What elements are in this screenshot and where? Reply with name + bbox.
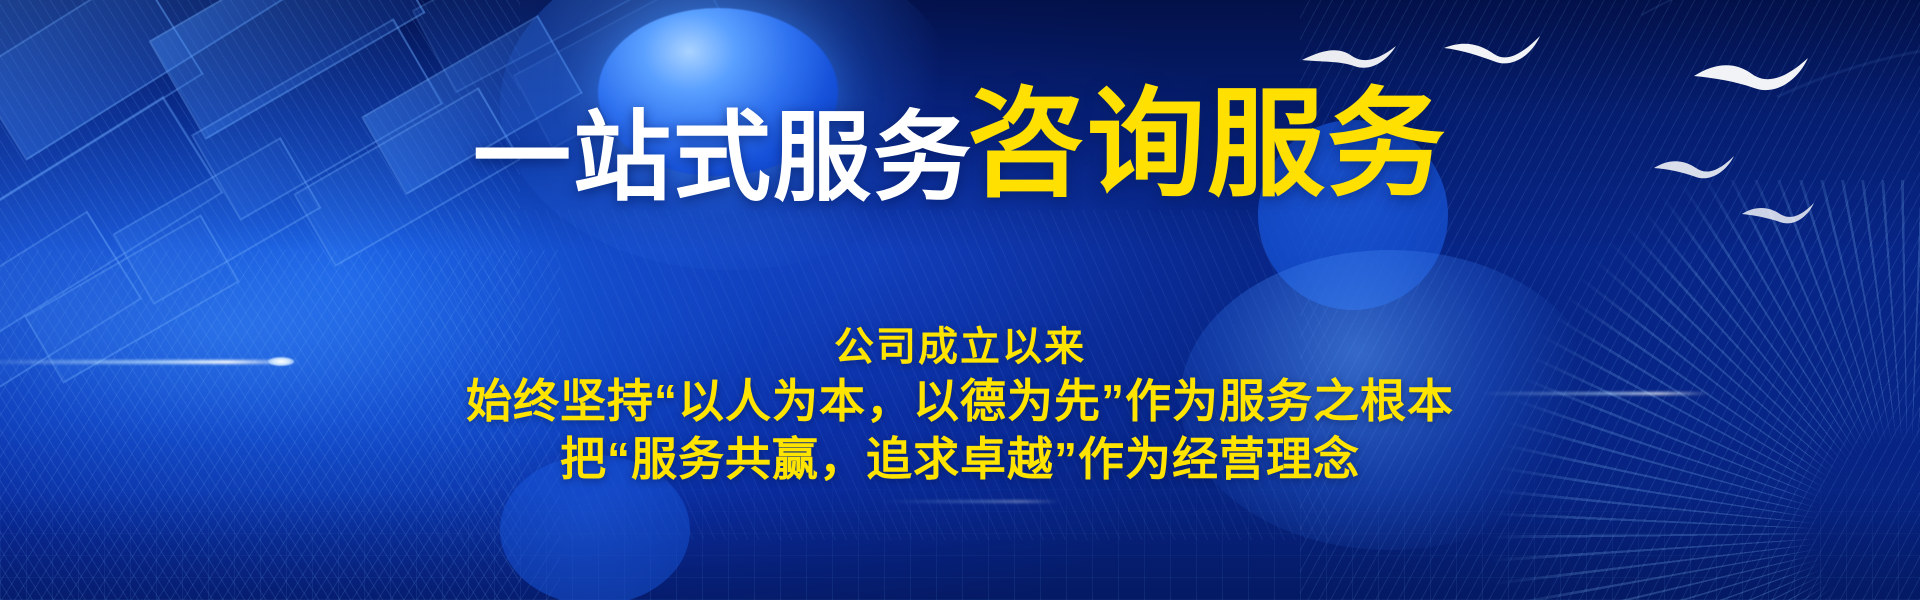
- seagull-icon: [1440, 30, 1560, 75]
- body-line-1: 公司成立以来: [0, 322, 1920, 372]
- body-copy: 公司成立以来 始终坚持“以人为本，以德为先”作为服务之根本 把“服务共赢，追求卓…: [0, 322, 1920, 488]
- headline: 一站式服务咨询服务: [0, 86, 1920, 206]
- light-streak: [880, 500, 1060, 503]
- headline-yellow-text: 咨询服务: [967, 79, 1447, 211]
- body-line-2: 始终坚持“以人为本，以德为先”作为服务之根本: [0, 372, 1920, 430]
- seagull-icon: [1300, 38, 1420, 83]
- promo-banner: 一站式服务咨询服务 公司成立以来 始终坚持“以人为本，以德为先”作为服务之根本 …: [0, 0, 1920, 600]
- headline-white-text: 一站式服务: [473, 102, 973, 212]
- body-line-3: 把“服务共赢，追求卓越”作为经营理念: [0, 430, 1920, 488]
